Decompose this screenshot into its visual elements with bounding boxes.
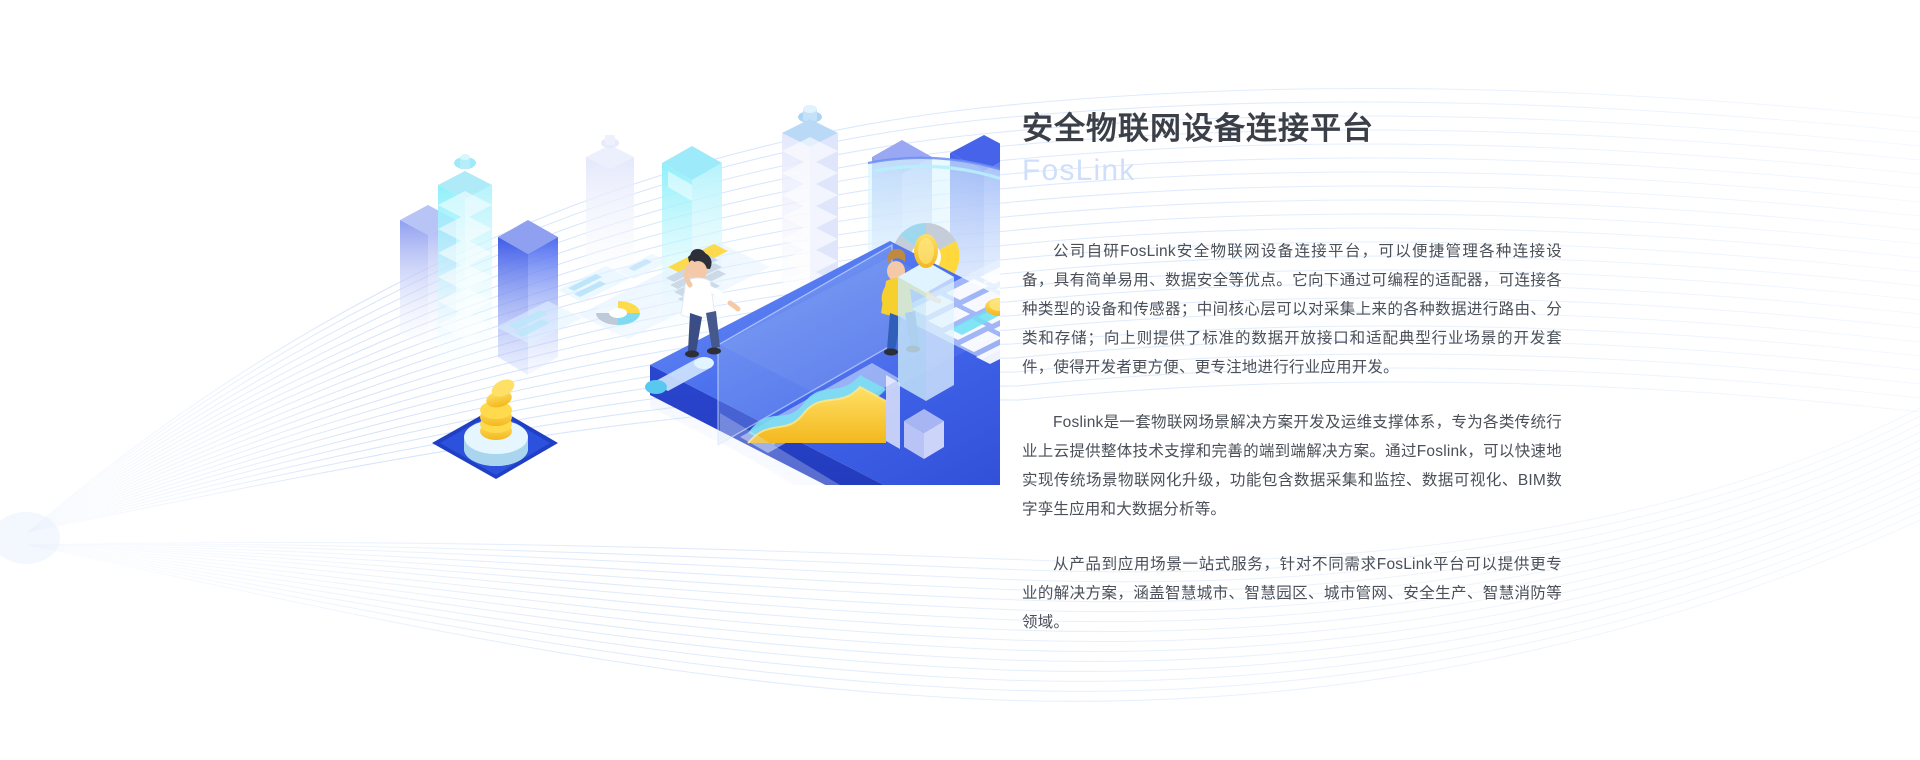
building-cyan-pagoda-left — [438, 154, 492, 375]
gold-coin-stack — [480, 376, 517, 440]
page-title: 安全物联网设备连接平台 — [1022, 110, 1562, 149]
body-paragraph-2: Foslink是一套物联网场景解决方案开发及运维支撑体系，专为各类传统行业上云提… — [1022, 408, 1562, 524]
body-paragraph-3: 从产品到应用场景一站式服务，针对不同需求FosLink平台可以提供更专业的解决方… — [1022, 550, 1562, 637]
building-violet-2 — [498, 220, 558, 375]
page-subtitle: FosLink — [1022, 153, 1562, 189]
hero-text-column: 安全物联网设备连接平台 FosLink 公司自研FosLink安全物联网设备连接… — [1022, 110, 1562, 637]
hero-illustration — [300, 45, 1000, 485]
page-root: 安全物联网设备连接平台 FosLink 公司自研FosLink安全物联网设备连接… — [0, 0, 1920, 760]
donut-chart-small — [596, 301, 640, 325]
coin-pedestal-left — [432, 376, 558, 479]
body-paragraph-1: 公司自研FosLink安全物联网设备连接平台，可以便捷管理各种连接设备，具有简单… — [1022, 237, 1562, 382]
isometric-city-platform-icon — [300, 45, 1000, 485]
